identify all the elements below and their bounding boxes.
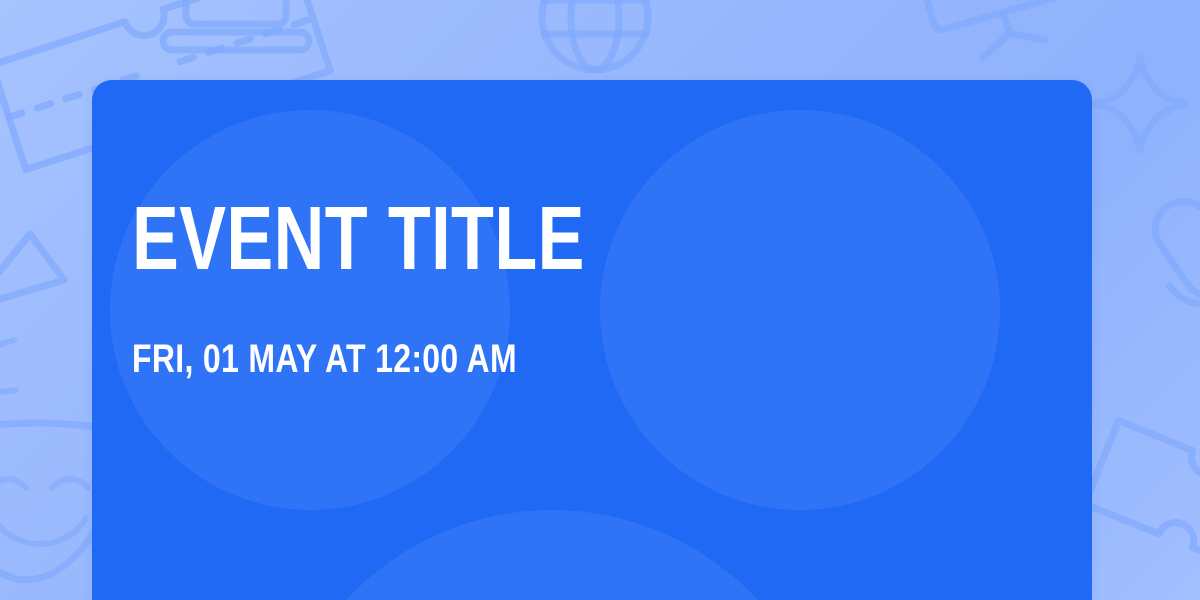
sparkle-icon [1094, 58, 1186, 150]
event-banner: EVENT TITLE FRI, 01 MAY AT 12:00 AM [0, 0, 1200, 600]
event-card[interactable]: EVENT TITLE FRI, 01 MAY AT 12:00 AM [92, 80, 1092, 600]
presentation-board-icon [912, 0, 1081, 68]
event-datetime: FRI, 01 MAY AT 12:00 AM [132, 342, 517, 376]
globe-icon [542, 0, 648, 70]
card-content: EVENT TITLE FRI, 01 MAY AT 12:00 AM [132, 80, 1052, 600]
confetti-icon [0, 234, 64, 396]
laptop-icon [163, 0, 309, 50]
ticket-icon [1085, 421, 1200, 578]
event-title: EVENT TITLE [132, 201, 585, 277]
microphone-icon [1131, 181, 1200, 349]
